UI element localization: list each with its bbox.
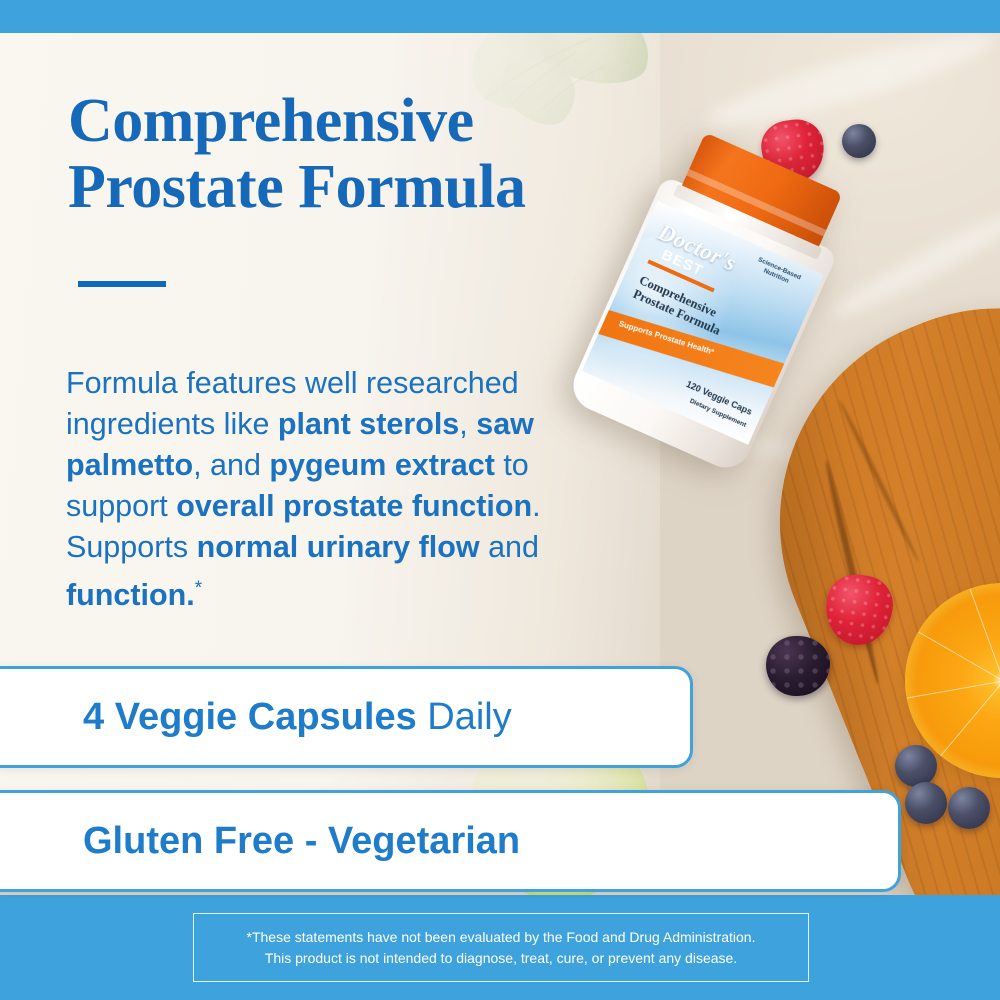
callout-dosage-regular: Daily	[417, 696, 512, 738]
body-bold-overall-prostate-function: overall prostate function	[176, 489, 532, 523]
callout-diet-bold: Gluten Free - Vegetarian	[83, 820, 520, 862]
callout-dosage: 4 Veggie Capsules Daily	[0, 666, 693, 768]
body-bold-normal-urinary-flow: normal urinary flow	[197, 530, 480, 564]
callout-dosage-bold: 4 Veggie Capsules	[83, 696, 417, 738]
blueberry	[948, 787, 990, 829]
callout-diet-text: Gluten Free - Vegetarian	[0, 820, 520, 863]
callout-diet: Gluten Free - Vegetarian	[0, 790, 901, 892]
body-paragraph: Formula features well researched ingredi…	[66, 363, 626, 616]
body-bold-function: function.	[66, 578, 195, 612]
fda-disclaimer: *These statements have not been evaluate…	[193, 913, 809, 982]
headline-line-2: Prostate Formula	[68, 154, 648, 220]
body-bold-plant-sterols: plant sterols	[278, 407, 459, 441]
blueberry	[842, 124, 876, 158]
divider-rule	[78, 281, 166, 287]
fda-disclaimer-line-2: This product is not intended to diagnose…	[265, 950, 737, 966]
body-seg-6: and	[480, 530, 539, 564]
headline-line-1: Comprehensive	[68, 88, 648, 154]
fda-disclaimer-text: *These statements have not been evaluate…	[247, 927, 756, 969]
top-blue-band	[0, 0, 1000, 33]
callout-dosage-text: 4 Veggie Capsules Daily	[0, 696, 512, 739]
body-asterisk: *	[195, 578, 202, 599]
wood-grain	[837, 399, 920, 563]
product-marketing-image: Doctor's BEST Science-Based Nutrition Co…	[0, 0, 1000, 1000]
fda-disclaimer-line-1: *These statements have not been evaluate…	[247, 929, 756, 945]
blueberry	[895, 745, 937, 787]
body-seg-2: ,	[459, 407, 476, 441]
page-title: Comprehensive Prostate Formula	[68, 88, 648, 220]
body-seg-3: , and	[193, 448, 269, 482]
blueberry	[905, 782, 947, 824]
marble-streak	[700, 19, 999, 140]
wood-grain	[823, 459, 882, 685]
body-bold-pygeum-extract: pygeum extract	[269, 448, 494, 482]
